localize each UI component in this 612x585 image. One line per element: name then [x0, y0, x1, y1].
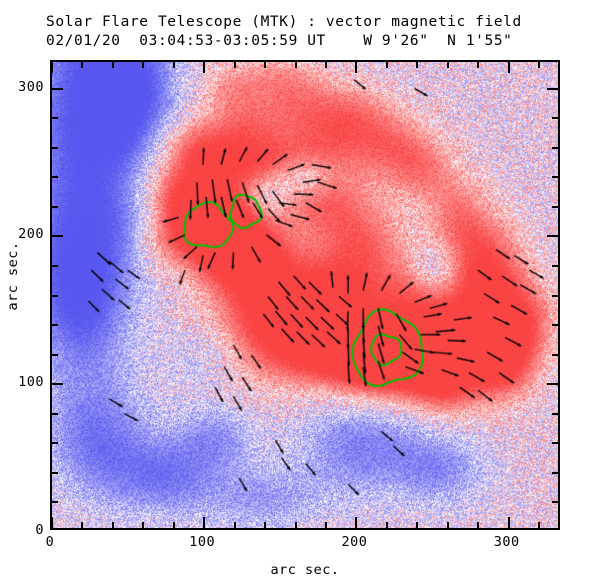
tick-mark — [552, 442, 558, 444]
tick-mark — [52, 413, 58, 415]
chart-subtitle: 02/01/20 03:04:53-03:05:59 UT W 9'26" N … — [46, 32, 586, 51]
chart-title: Solar Flare Telescope (MTK) : vector mag… — [46, 13, 586, 32]
tick-mark — [547, 88, 558, 90]
tick-mark — [52, 295, 58, 297]
tick-mark — [552, 324, 558, 326]
tick-mark — [52, 354, 58, 356]
x-axis-tick-labels: 0100200300 — [50, 534, 560, 556]
tick-mark — [52, 88, 63, 90]
tick-mark — [52, 176, 58, 178]
vector-magnetic-field-map — [52, 62, 558, 528]
tick-mark — [386, 62, 388, 68]
x-axis-title: arc sec. — [50, 562, 560, 578]
tick-mark — [552, 147, 558, 149]
tick-mark — [142, 522, 144, 528]
tick-mark — [52, 501, 58, 503]
tick-mark — [52, 206, 58, 208]
tick-mark — [234, 522, 236, 528]
tick-mark — [52, 442, 58, 444]
magnetogram-plot-area — [50, 60, 560, 530]
tick-mark — [173, 62, 175, 68]
tick-mark — [538, 62, 540, 68]
tick-mark — [538, 522, 540, 528]
tick-mark — [552, 265, 558, 267]
tick-mark — [355, 517, 357, 528]
tick-mark — [552, 295, 558, 297]
tick-mark — [508, 62, 510, 73]
tick-mark — [447, 522, 449, 528]
tick-mark — [264, 62, 266, 68]
tick-mark — [203, 517, 205, 528]
tick-mark — [325, 62, 327, 68]
tick-mark — [203, 62, 205, 73]
y-tick-label: 300 — [18, 79, 44, 95]
tick-mark — [552, 206, 558, 208]
tick-mark — [477, 522, 479, 528]
tick-mark — [447, 62, 449, 68]
tick-mark — [264, 522, 266, 528]
x-tick-label: 100 — [189, 534, 215, 550]
x-tick-label: 0 — [46, 534, 55, 550]
tick-mark — [416, 62, 418, 68]
tick-mark — [295, 62, 297, 68]
x-tick-label: 200 — [342, 534, 368, 550]
y-tick-label: 100 — [18, 374, 44, 390]
tick-mark — [112, 62, 114, 68]
x-tick-label: 300 — [494, 534, 520, 550]
tick-mark — [51, 517, 53, 528]
tick-mark — [52, 472, 58, 474]
tick-mark — [355, 62, 357, 73]
tick-mark — [52, 383, 63, 385]
tick-mark — [552, 354, 558, 356]
tick-mark — [416, 522, 418, 528]
y-tick-label: 0 — [35, 522, 44, 538]
tick-mark — [508, 517, 510, 528]
y-axis-title: arc sec. — [5, 241, 21, 311]
chart-title-block: Solar Flare Telescope (MTK) : vector mag… — [46, 13, 586, 51]
tick-mark — [552, 117, 558, 119]
tick-mark — [295, 522, 297, 528]
tick-mark — [547, 383, 558, 385]
tick-mark — [112, 522, 114, 528]
tick-mark — [81, 62, 83, 68]
tick-mark — [386, 522, 388, 528]
tick-mark — [142, 62, 144, 68]
tick-mark — [552, 472, 558, 474]
tick-mark — [52, 324, 58, 326]
tick-mark — [552, 176, 558, 178]
tick-mark — [325, 522, 327, 528]
tick-mark — [234, 62, 236, 68]
tick-mark — [173, 522, 175, 528]
tick-mark — [552, 501, 558, 503]
tick-mark — [552, 413, 558, 415]
tick-mark — [477, 62, 479, 68]
tick-mark — [52, 235, 63, 237]
tick-mark — [52, 117, 58, 119]
tick-mark — [52, 265, 58, 267]
tick-mark — [52, 147, 58, 149]
y-tick-label: 200 — [18, 226, 44, 242]
tick-mark — [51, 62, 53, 73]
tick-mark — [547, 235, 558, 237]
tick-mark — [81, 522, 83, 528]
